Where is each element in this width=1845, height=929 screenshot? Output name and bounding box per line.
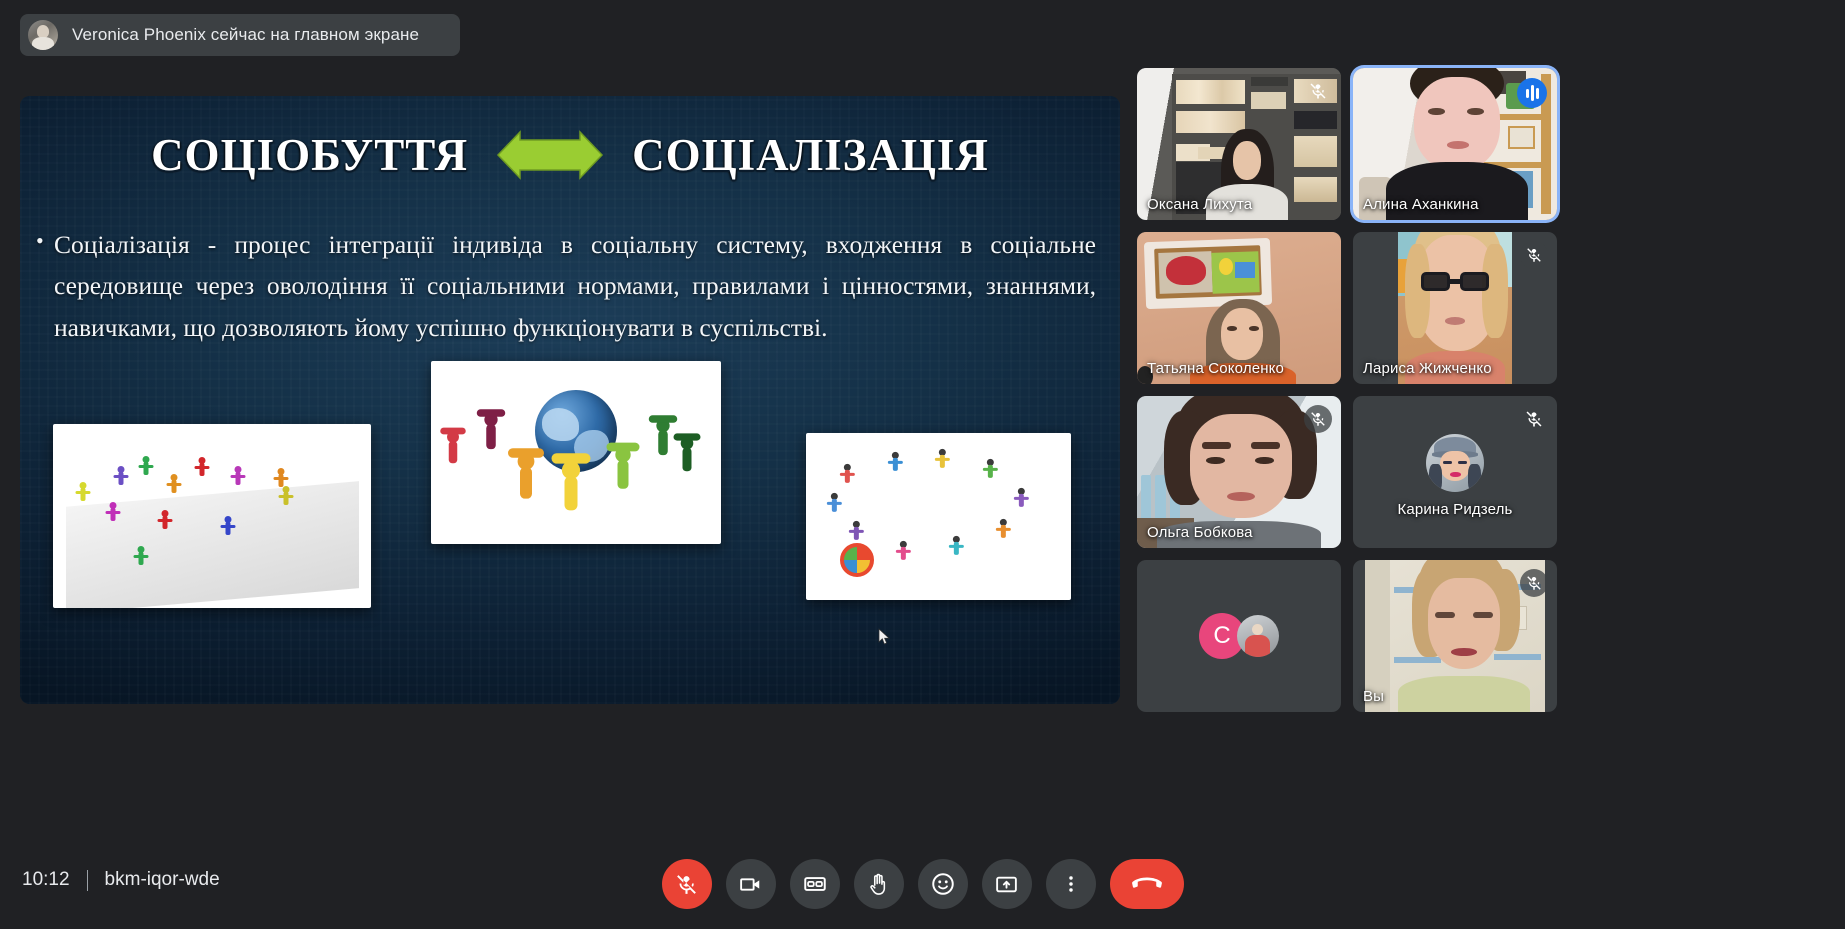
shared-screen-slide[interactable]: СОЦІОБУТТЯ СОЦІАЛІЗАЦІЯ •Соціалізація - … [20, 96, 1120, 704]
inclusive-circle-image [806, 433, 1071, 600]
puzzle-people-image [53, 424, 371, 608]
participant-tile-larisa[interactable]: Лариса Жижченко [1353, 232, 1557, 384]
slide-body-text: Соціалізація - процес інтеграції індивід… [54, 230, 1096, 342]
captions-button[interactable] [790, 859, 840, 909]
double-arrow-icon [490, 128, 610, 182]
participant-tile-avatar-pair[interactable]: C [1137, 560, 1341, 712]
mouse-cursor-icon [878, 628, 890, 646]
presenter-avatar-icon [28, 20, 58, 50]
slide-title-left: СОЦІОБУТТЯ [151, 129, 468, 181]
presenter-banner-text: Veronica Phoenix сейчас на главном экран… [72, 25, 419, 45]
slide-bullet-marker: • [36, 223, 44, 259]
participant-tile-alina[interactable]: Алина Аханкина [1353, 68, 1557, 220]
meet-app-root: Veronica Phoenix сейчас на главном экран… [0, 0, 1845, 929]
participant-tile-karina[interactable]: Карина Ридзель [1353, 396, 1557, 548]
meta-divider [87, 870, 88, 891]
speaking-indicator-icon [1517, 78, 1547, 108]
participant-name: Лариса Жижченко [1363, 360, 1492, 377]
participant-name: Вы [1363, 688, 1384, 705]
mic-off-icon [1304, 405, 1332, 433]
avatar-pair: C [1199, 613, 1279, 659]
participant-grid: Оксана Лихута [1137, 68, 1829, 716]
avatar-photo [1237, 615, 1279, 657]
avatar [1426, 434, 1484, 492]
globe-people-image [431, 361, 721, 544]
participant-tile-oksana[interactable]: Оксана Лихута [1137, 68, 1341, 220]
participant-name: Карина Ридзель [1353, 501, 1557, 518]
wheelchair-wheel-icon [840, 543, 874, 577]
puzzle-board-shape [66, 481, 359, 608]
present-button[interactable] [982, 859, 1032, 909]
presenter-banner: Veronica Phoenix сейчас на главном экран… [20, 14, 460, 56]
camera-button[interactable] [726, 859, 776, 909]
microphone-off-button[interactable] [662, 859, 712, 909]
participant-tile-tatyana[interactable]: Татьяна Соколенко [1137, 232, 1341, 384]
participant-tile-olga[interactable]: Ольга Бобкова [1137, 396, 1341, 548]
reactions-button[interactable] [918, 859, 968, 909]
participant-video [1365, 560, 1545, 712]
slide-body-paragraph: •Соціалізація - процес інтеграції індиві… [54, 224, 1096, 348]
slide-title-row: СОЦІОБУТТЯ СОЦІАЛІЗАЦІЯ [20, 128, 1120, 182]
slide-title-right: СОЦІАЛІЗАЦІЯ [632, 129, 989, 181]
leave-call-button[interactable] [1110, 859, 1184, 909]
mic-off-icon [1304, 77, 1332, 105]
participant-name: Оксана Лихута [1147, 196, 1252, 213]
slide-image-group [20, 96, 1120, 704]
participant-name: Ольга Бобкова [1147, 524, 1253, 541]
participant-name: Алина Аханкина [1363, 196, 1479, 213]
call-controls [662, 859, 1184, 909]
more-options-button[interactable] [1046, 859, 1096, 909]
raise-hand-button[interactable] [854, 859, 904, 909]
mic-off-icon [1520, 569, 1548, 597]
mic-off-icon [1520, 405, 1548, 433]
meeting-code: bkm-iqor-wde [105, 869, 220, 891]
bottom-bar: 10:12 bkm-iqor-wde [0, 833, 1845, 929]
participant-name: Татьяна Соколенко [1147, 360, 1284, 377]
mic-off-icon [1520, 241, 1548, 269]
meeting-time: 10:12 [22, 869, 70, 891]
participant-tile-self[interactable]: Вы [1353, 560, 1557, 712]
meeting-meta: 10:12 bkm-iqor-wde [22, 869, 220, 891]
